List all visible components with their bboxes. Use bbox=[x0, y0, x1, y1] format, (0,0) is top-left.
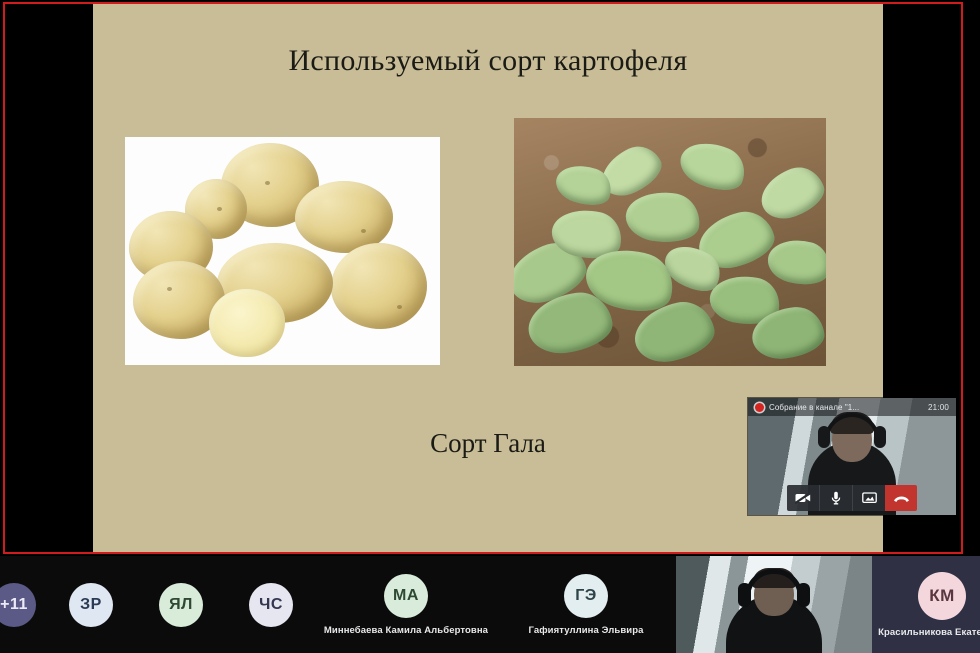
avatar: +11 bbox=[0, 583, 36, 627]
meeting-timer: 21:00 bbox=[928, 403, 949, 412]
share-screen-button[interactable] bbox=[852, 485, 885, 511]
avatar: ЯЛ bbox=[159, 583, 203, 627]
self-view-header: Собрание в канале "1... 21:00 bbox=[748, 398, 956, 416]
participant-filmstrip: +11 ЗР ЯЛ ЧС МА Миннебаева Камила Альбер… bbox=[0, 556, 980, 653]
participant-tile[interactable]: ЯЛ bbox=[136, 556, 226, 653]
self-view-panel[interactable]: Собрание в канале "1... 21:00 bbox=[748, 398, 956, 515]
hangup-button[interactable] bbox=[885, 485, 917, 511]
participant-name: Миннебаева Камила Альбертовна bbox=[324, 625, 488, 636]
call-controls bbox=[787, 485, 917, 511]
avatar: КМ bbox=[918, 572, 966, 620]
participant-name: Красильникова Екате bbox=[878, 627, 980, 638]
microphone-button[interactable] bbox=[819, 485, 852, 511]
shared-screen-stage: Используемый сорт картофеля bbox=[0, 0, 980, 556]
participant-tile[interactable]: ЧС bbox=[226, 556, 316, 653]
meeting-title: Собрание в канале "1... bbox=[769, 403, 923, 412]
potatoes-photo bbox=[125, 137, 440, 365]
participant-name: Гафиятуллина Эльвира bbox=[528, 625, 643, 636]
participant-tile[interactable]: ГЭ Гафиятуллина Эльвира bbox=[496, 556, 676, 653]
avatar: ЗР bbox=[69, 583, 113, 627]
participant-tile[interactable]: КМ Красильникова Екате bbox=[872, 556, 980, 653]
avatar: ЧС bbox=[249, 583, 293, 627]
recording-indicator-icon bbox=[755, 403, 764, 412]
participant-video-tile[interactable] bbox=[676, 556, 872, 653]
participant-overflow-badge[interactable]: +11 bbox=[0, 556, 46, 653]
potato-field-photo bbox=[514, 118, 826, 366]
meeting-screen: Используемый сорт картофеля bbox=[0, 0, 980, 653]
camera-off-button[interactable] bbox=[787, 485, 819, 511]
participant-tile[interactable]: МА Миннебаева Камила Альбертовна bbox=[316, 556, 496, 653]
participant-tile[interactable]: ЗР bbox=[46, 556, 136, 653]
slide-title: Используемый сорт картофеля bbox=[93, 44, 883, 78]
avatar: МА bbox=[384, 574, 428, 618]
avatar: ГЭ bbox=[564, 574, 608, 618]
